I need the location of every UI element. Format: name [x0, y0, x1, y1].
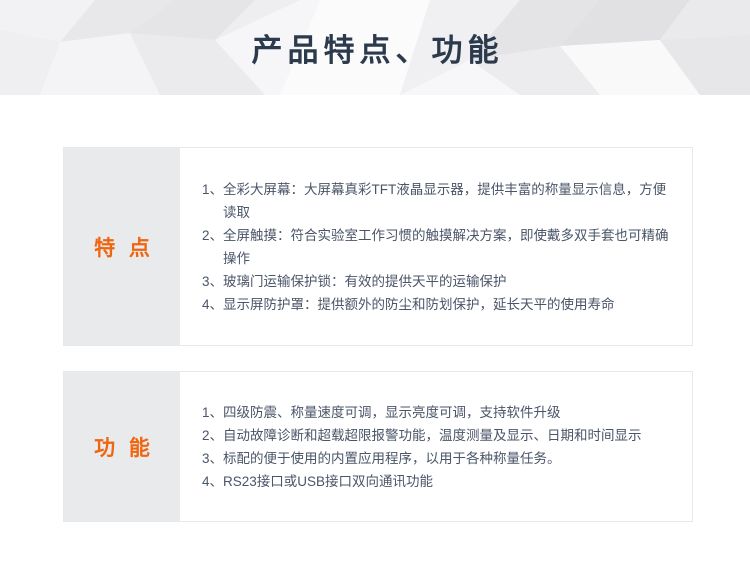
- list-item-text: RS23接口或USB接口双向通讯功能: [223, 470, 674, 493]
- features-list: 1、 全彩大屏幕：大屏幕真彩TFT液晶显示器，提供丰富的称量显示信息，方便读取 …: [202, 178, 674, 316]
- list-item: 4、 RS23接口或USB接口双向通讯功能: [202, 470, 674, 493]
- features-label: 特 点: [90, 232, 154, 262]
- list-item-index: 2、: [202, 224, 223, 247]
- list-item: 1、 全彩大屏幕：大屏幕真彩TFT液晶显示器，提供丰富的称量显示信息，方便读取: [202, 178, 674, 224]
- list-item-index: 1、: [202, 401, 223, 424]
- list-item-text: 全屏触摸：符合实验室工作习惯的触摸解决方案，即使戴多双手套也可精确操作: [223, 224, 674, 270]
- list-item-text: 玻璃门运输保护锁：有效的提供天平的运输保护: [223, 270, 674, 293]
- list-item: 3、 标配的便于使用的内置应用程序，以用于各种称量任务。: [202, 447, 674, 470]
- functions-label-cell: 功 能: [64, 372, 180, 521]
- functions-block: 功 能 1、 四级防震、称量速度可调，显示亮度可调，支持软件升级 2、 自动故障…: [63, 371, 693, 522]
- functions-body-cell: 1、 四级防震、称量速度可调，显示亮度可调，支持软件升级 2、 自动故障诊断和超…: [180, 372, 692, 521]
- list-item-index: 3、: [202, 447, 223, 470]
- functions-label: 功 能: [90, 432, 154, 462]
- list-item: 1、 四级防震、称量速度可调，显示亮度可调，支持软件升级: [202, 401, 674, 424]
- list-item-text: 标配的便于使用的内置应用程序，以用于各种称量任务。: [223, 447, 674, 470]
- list-item-index: 4、: [202, 293, 223, 316]
- list-item-text: 全彩大屏幕：大屏幕真彩TFT液晶显示器，提供丰富的称量显示信息，方便读取: [223, 178, 674, 224]
- functions-list: 1、 四级防震、称量速度可调，显示亮度可调，支持软件升级 2、 自动故障诊断和超…: [202, 401, 674, 493]
- list-item-index: 1、: [202, 178, 223, 201]
- list-item-index: 2、: [202, 424, 223, 447]
- list-item: 3、 玻璃门运输保护锁：有效的提供天平的运输保护: [202, 270, 674, 293]
- list-item-text: 显示屏防护罩：提供额外的防尘和防划保护，延长天平的使用寿命: [223, 293, 674, 316]
- page-banner: 产品特点、功能: [0, 0, 750, 95]
- list-item: 2、 自动故障诊断和超载超限报警功能，温度测量及显示、日期和时间显示: [202, 424, 674, 447]
- list-item-text: 四级防震、称量速度可调，显示亮度可调，支持软件升级: [223, 401, 674, 424]
- list-item: 4、 显示屏防护罩：提供额外的防尘和防划保护，延长天平的使用寿命: [202, 293, 674, 316]
- features-block: 特 点 1、 全彩大屏幕：大屏幕真彩TFT液晶显示器，提供丰富的称量显示信息，方…: [63, 147, 693, 346]
- list-item-index: 3、: [202, 270, 223, 293]
- features-label-cell: 特 点: [64, 148, 180, 345]
- list-item-index: 4、: [202, 470, 223, 493]
- features-body-cell: 1、 全彩大屏幕：大屏幕真彩TFT液晶显示器，提供丰富的称量显示信息，方便读取 …: [180, 148, 692, 345]
- list-item: 2、 全屏触摸：符合实验室工作习惯的触摸解决方案，即使戴多双手套也可精确操作: [202, 224, 674, 270]
- list-item-text: 自动故障诊断和超载超限报警功能，温度测量及显示、日期和时间显示: [223, 424, 674, 447]
- page-title: 产品特点、功能: [0, 0, 750, 95]
